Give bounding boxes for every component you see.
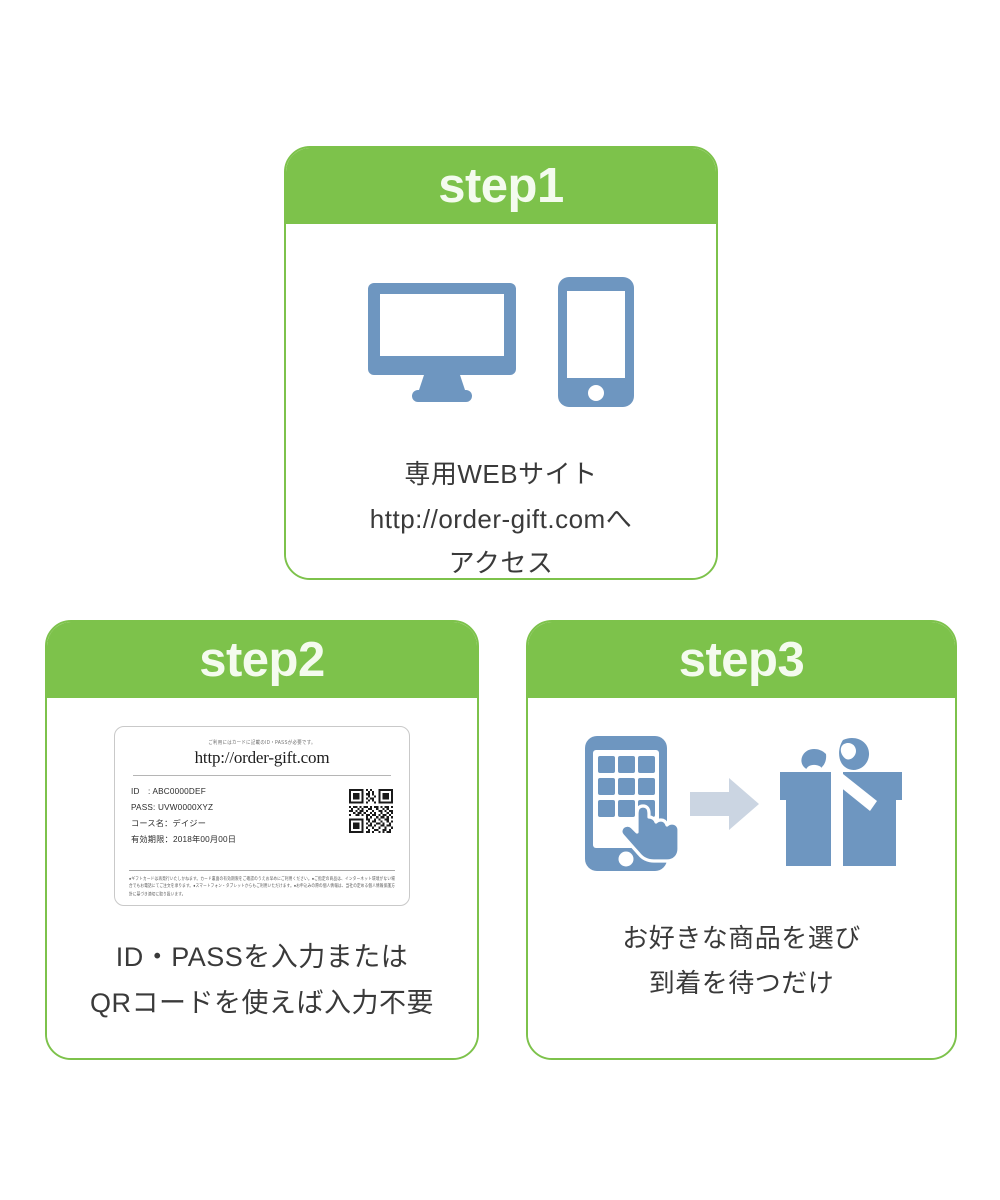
gift-card-image: ご利用にはカードに記載のID・PASSが必要です。 http://order-g… [114,726,410,906]
gift-card-field-course: コース名：デイジー [131,816,316,832]
smartphone-tap-icon [585,736,679,871]
step-card-1: step1 専用WEBサイト [284,146,718,580]
gift-card-fields: ID : ABC0000DEF PASS: UVW0000XYZ コース名：デイ… [131,784,316,848]
smartphone-icon [558,277,634,412]
gift-card-fine-divider [129,870,395,871]
gift-card-field-id: ID : ABC0000DEF [131,784,316,800]
step1-caption: 専用WEBサイト http://order-gift.comへ アクセス [370,452,632,580]
step3-body: お好きな商品を選び 到着を待つだけ [528,698,955,1058]
gift-card-fine-print: ●ギフトカードは再発行いたしかねます。カード裏面の有効期限をご確認のうえお早めに… [129,870,395,894]
step2-body: ご利用にはカードに記載のID・PASSが必要です。 http://order-g… [47,698,477,1058]
gift-card-url: http://order-gift.com [131,748,393,768]
gift-card-fine-text: ●ギフトカードは再発行いたしかねます。カード裏面の有効期限をご確認のうえお早めに… [129,875,395,898]
step2-caption-line-1: ID・PASSを入力または [90,934,434,980]
desktop-monitor-icon [368,277,516,412]
gift-card-divider [133,775,391,776]
step1-caption-line-1: 専用WEBサイト [370,452,632,497]
step1-header: step1 [286,148,716,224]
gift-box-icon [780,738,902,866]
gift-card-field-pass: PASS: UVW0000XYZ [131,800,316,816]
step3-icon-area [577,726,907,886]
step3-caption-line-2: 到着を待つだけ [622,961,861,1006]
step1-caption-line-3: アクセス [370,541,632,580]
step2-caption: ID・PASSを入力または QRコードを使えば入力不要 [90,934,434,1027]
step2-caption-line-2: QRコードを使えば入力不要 [90,980,434,1026]
qr-code-icon [349,789,393,833]
step3-header: step3 [528,622,955,698]
step2-header: step2 [47,622,477,698]
gift-card-micro-line: ご利用にはカードに記載のID・PASSが必要です。 [131,740,393,747]
gift-card-field-expiry: 有効期限：2018年00月00日 [131,832,316,848]
step1-body: 専用WEBサイト http://order-gift.comへ アクセス [286,224,716,580]
step-card-3: step3 [526,620,957,1060]
step3-caption: お好きな商品を選び 到着を待つだけ [622,916,861,1005]
step1-caption-line-2: http://order-gift.comへ [370,497,632,542]
step1-icon-area [368,272,634,412]
step3-caption-line-1: お好きな商品を選び [622,916,861,961]
step-card-2: step2 ご利用にはカードに記載のID・PASSが必要です。 http://o… [45,620,479,1060]
arrow-right-icon [690,778,759,830]
